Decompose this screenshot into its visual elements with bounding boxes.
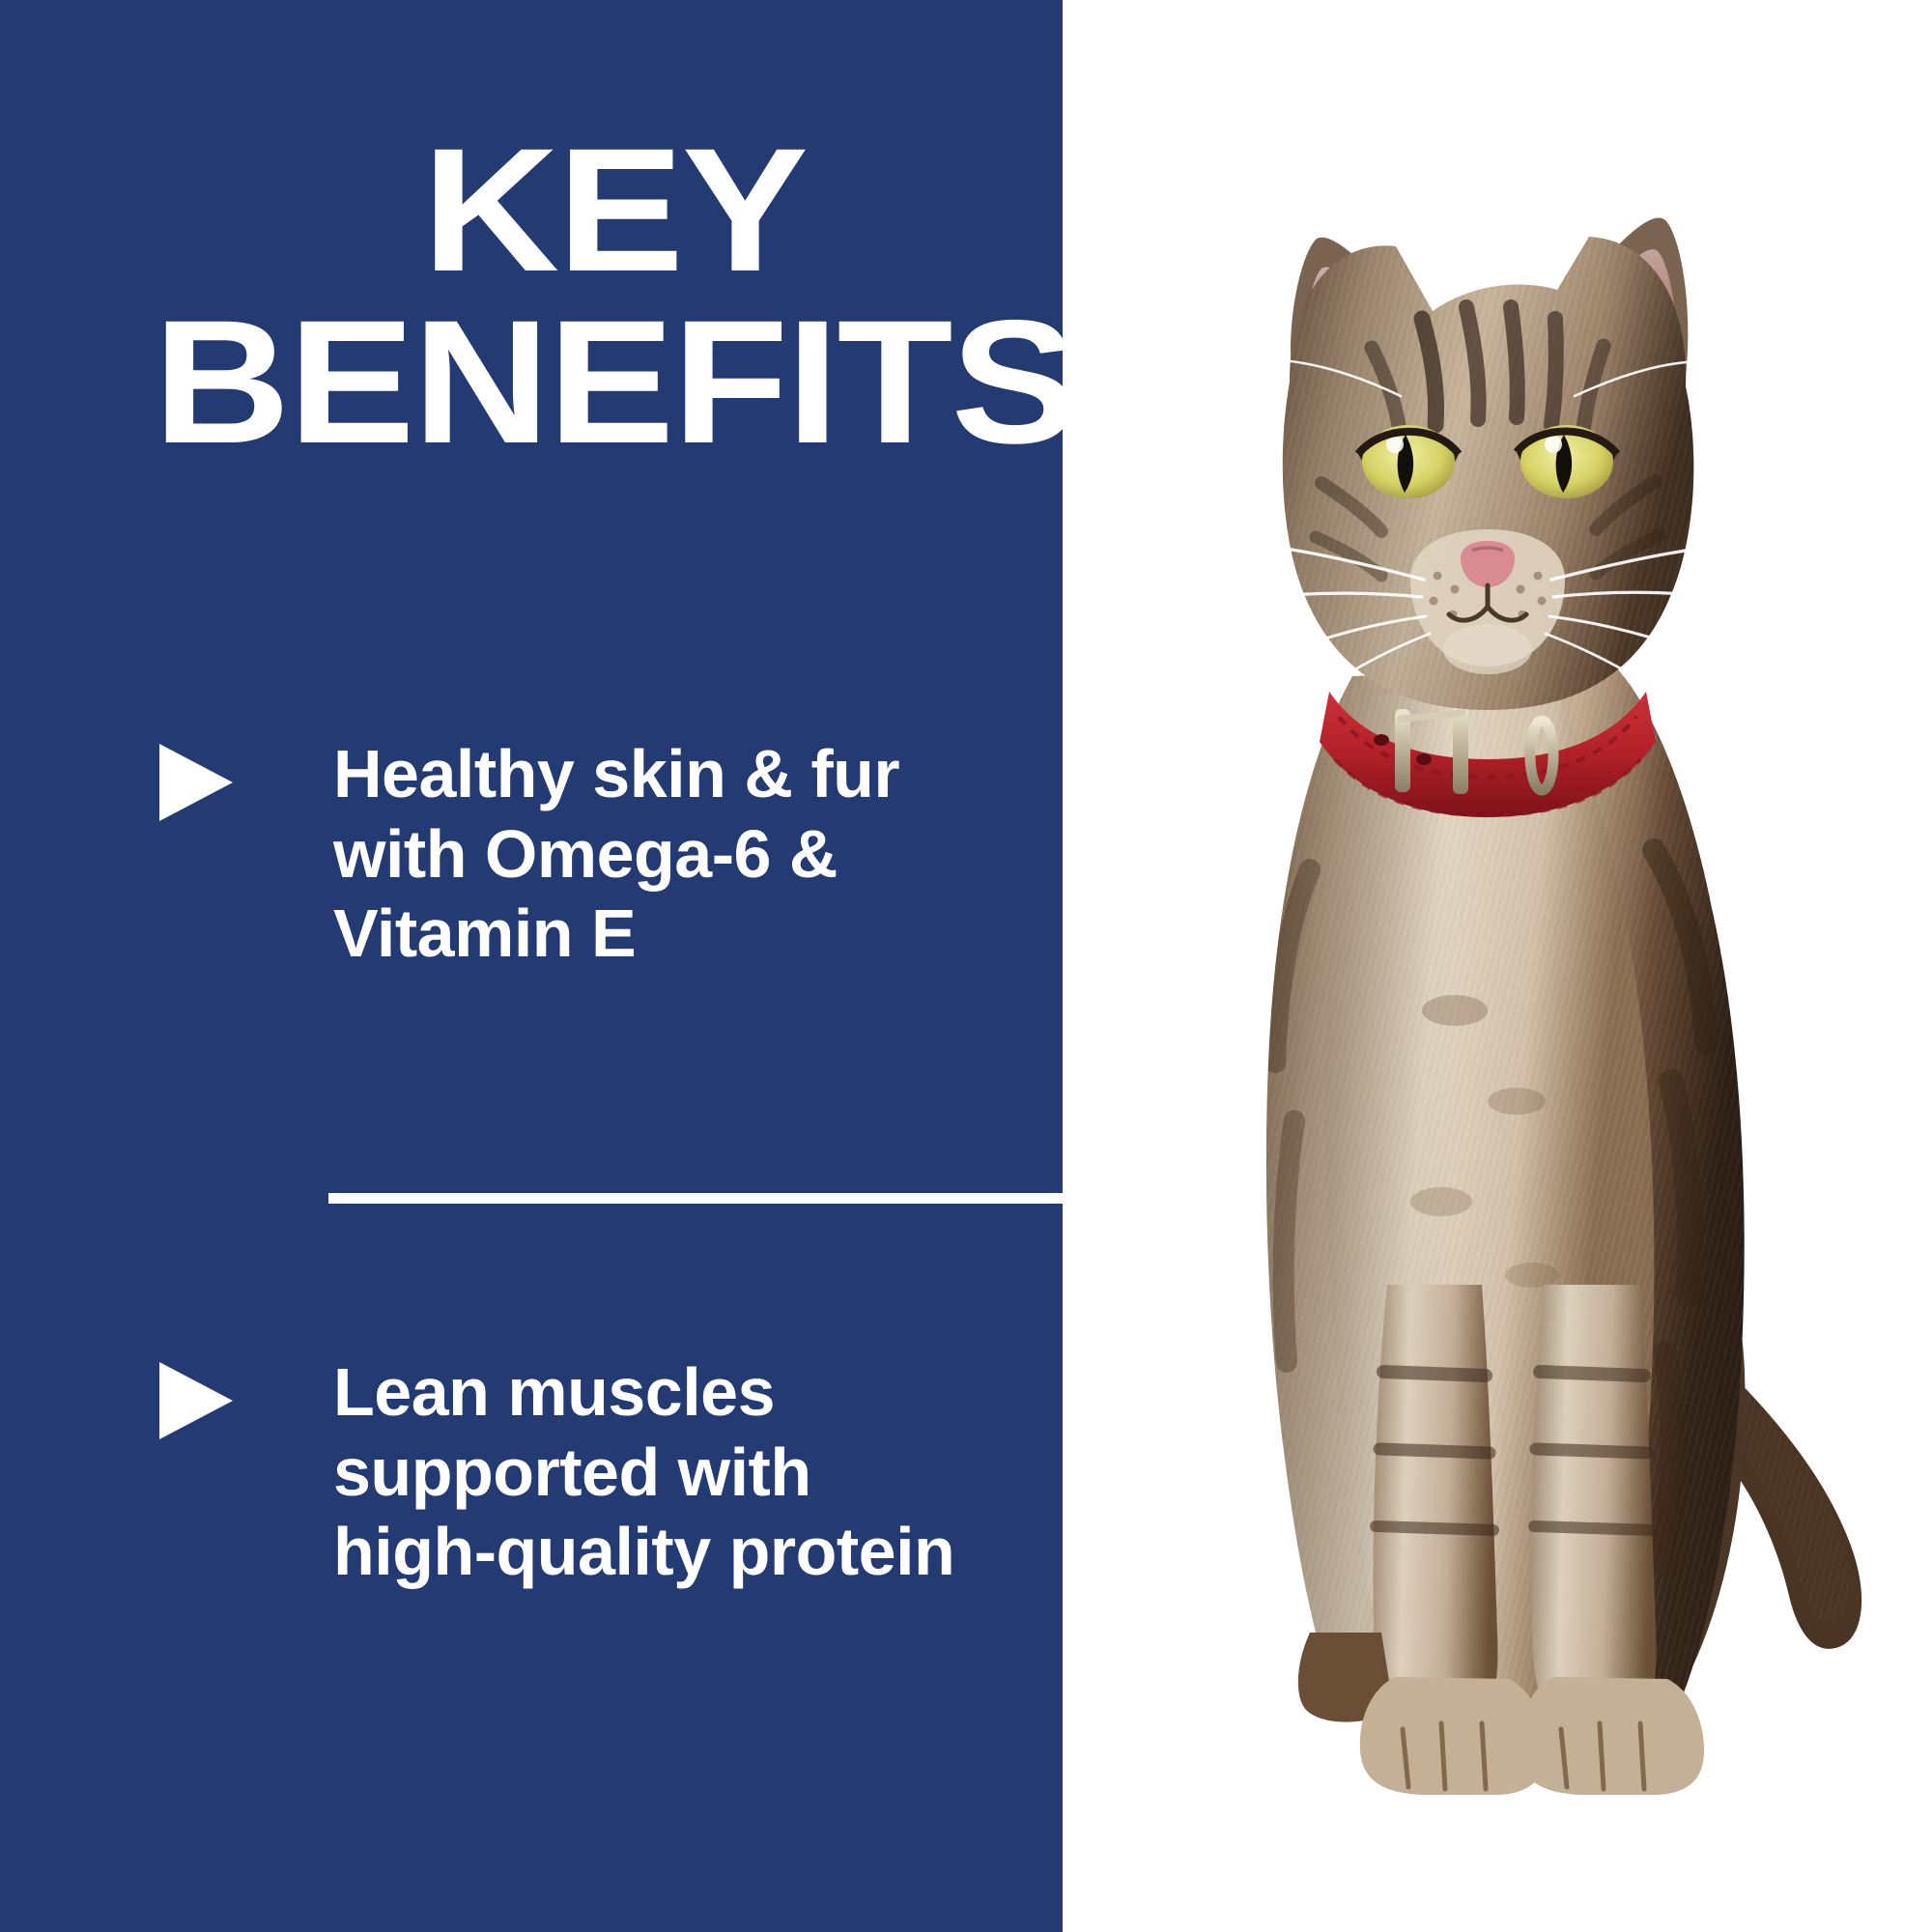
benefit-item-2-line-1: Lean muscles [333, 1352, 1125, 1433]
page-title-line-2: BENEFITS [0, 296, 1229, 468]
benefit-item-1-line-2: with Omega-6 & [333, 814, 1125, 895]
triangle-right-icon [159, 744, 233, 821]
page-title: KEY BENEFITS [0, 124, 1229, 469]
triangle-right-icon [159, 1362, 233, 1439]
cat-front-paw-left [1360, 1677, 1546, 1795]
benefit-item-1-line-3: Vitamin E [333, 894, 1125, 974]
benefit-item-1-line-1: Healthy skin & fur [333, 734, 1125, 814]
benefit-item-2-line-3: high-quality protein [333, 1512, 1125, 1592]
benefit-item-2-line-2: supported with [333, 1433, 1125, 1513]
cat-photo [1063, 0, 1932, 1932]
page-title-line-1: KEY [0, 124, 1229, 296]
section-divider [328, 1193, 1113, 1204]
blue-background-panel: KEY BENEFITS Healthy skin & fur with Ome… [0, 0, 1229, 1932]
benefit-item-2-text: Lean muscles supported with high-quality… [333, 1352, 1125, 1592]
tabby-cat-illustration [1063, 0, 1932, 1932]
key-benefits-panel: KEY BENEFITS Healthy skin & fur with Ome… [0, 0, 1932, 1932]
benefit-item-1-text: Healthy skin & fur with Omega-6 & Vitami… [333, 734, 1125, 974]
cat-front-paw-right [1519, 1677, 1704, 1795]
